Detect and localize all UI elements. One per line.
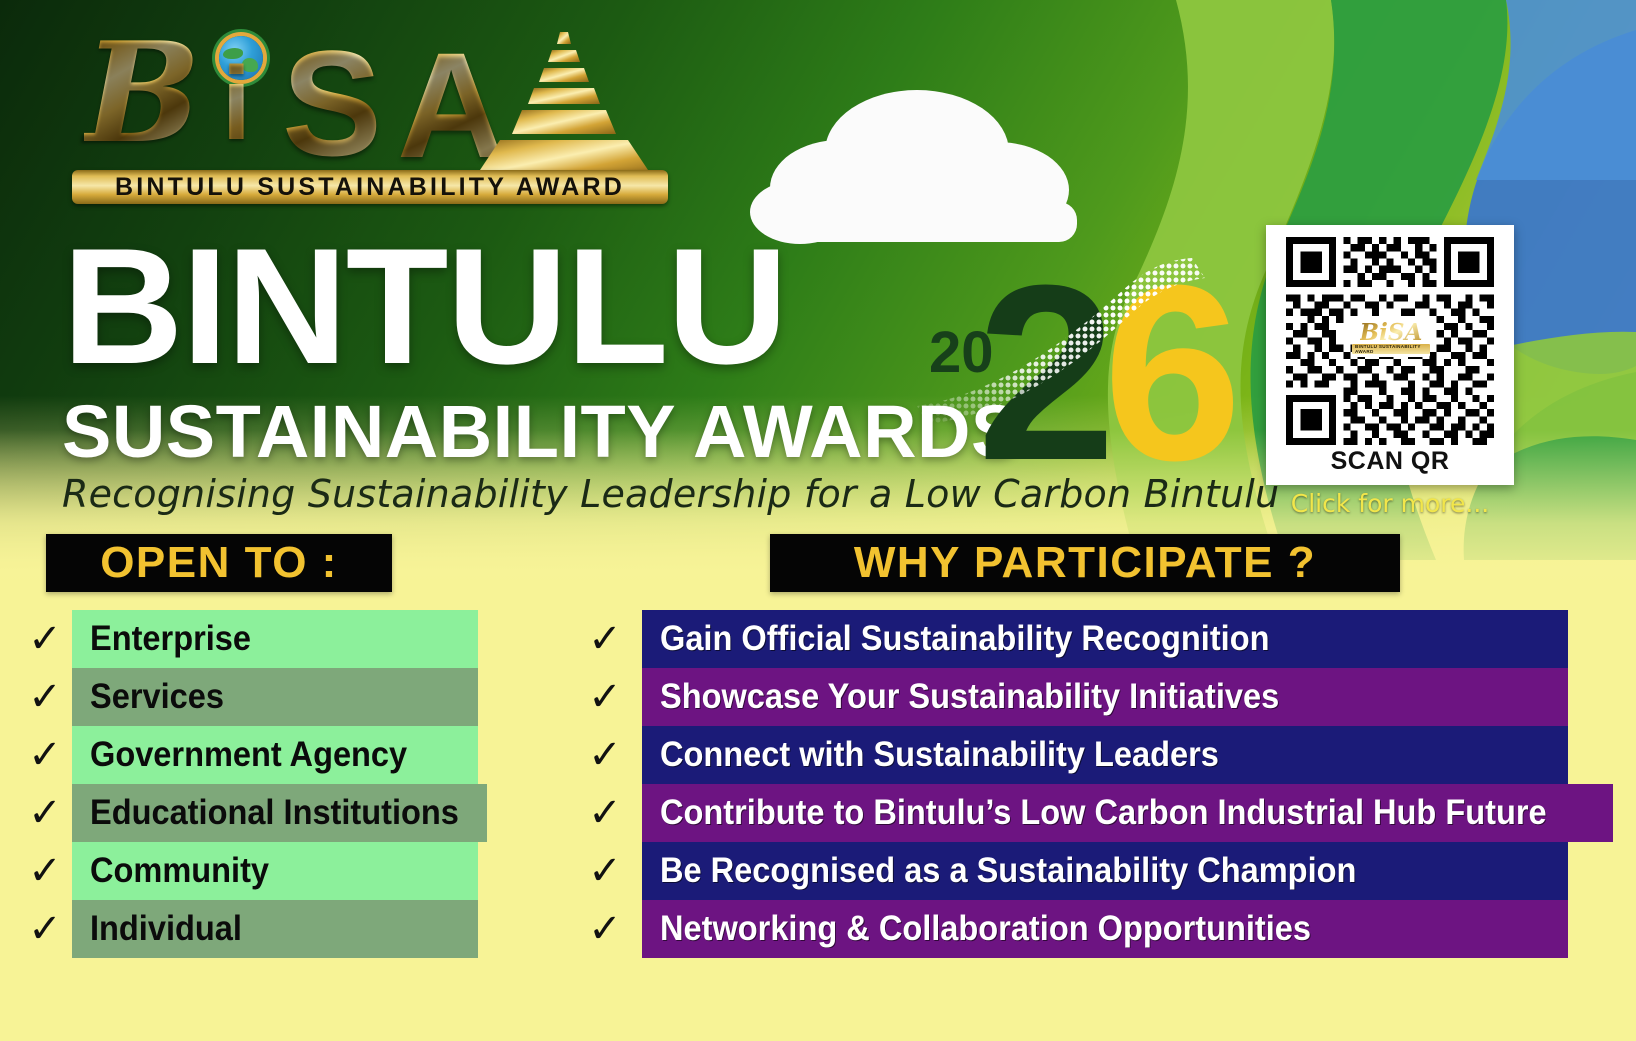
list-item[interactable]: ✓ Connect with Sustainability Leaders [568,726,1568,784]
list-item-pill[interactable]: Community [72,842,478,900]
page-subtitle: SUSTAINABILITY AWARDS [62,395,1021,469]
list-item-label: Government Agency [90,735,407,775]
qr-logo-subtext: BINTULU SUSTAINABILITY AWARD [1352,344,1430,354]
qr-code-card[interactable]: BiSA BINTULU SUSTAINABILITY AWARD SCAN Q… [1266,225,1514,485]
list-item[interactable]: ✓ Services [18,668,478,726]
bisa-logo[interactable]: B i S A [72,22,672,212]
page-title: BINTULU [62,228,786,385]
check-icon: ✓ [568,900,642,958]
list-item-label: Services [90,677,224,717]
logo-letter-i: i [222,52,251,156]
year-digit-6: 6 [1103,248,1242,498]
list-item-pill[interactable]: Government Agency [72,726,478,784]
list-item-pill[interactable]: Connect with Sustainability Leaders [642,726,1568,784]
qr-caption: SCAN QR [1266,447,1514,476]
list-item[interactable]: ✓ Community [18,842,478,900]
list-item-label: Connect with Sustainability Leaders [660,735,1219,775]
list-item-pill[interactable]: Networking & Collaboration Opportunities [642,900,1568,958]
qr-logo-text: BiSA [1360,321,1423,344]
qr-click-for-more-link[interactable]: Click for more... [1266,489,1514,518]
check-icon: ✓ [18,668,72,726]
check-icon: ✓ [568,784,642,842]
section-header-why-participate-label: WHY PARTICIPATE ? [854,538,1316,588]
list-item[interactable]: ✓ Individual [18,900,478,958]
why-participate-list: ✓ Gain Official Sustainability Recogniti… [568,610,1568,958]
list-item[interactable]: ✓ Government Agency [18,726,478,784]
logo-letter-s: S [282,28,382,178]
check-icon: ✓ [18,900,72,958]
list-item-pill[interactable]: Gain Official Sustainability Recognition [642,610,1568,668]
list-item[interactable]: ✓ Networking & Collaboration Opportuniti… [568,900,1568,958]
list-item-label: Community [90,851,269,891]
open-to-list: ✓ Enterprise ✓ Services ✓ Government Age… [18,610,478,958]
list-item-label: Gain Official Sustainability Recognition [660,619,1269,659]
check-icon: ✓ [568,668,642,726]
check-icon: ✓ [568,610,642,668]
list-item-pill[interactable]: Enterprise [72,610,478,668]
list-item[interactable]: ✓ Educational Institutions [18,784,478,842]
bisa-logo-wordmark-text: BINTULU SUSTAINABILITY AWARD [115,173,625,202]
list-item[interactable]: ✓ Showcase Your Sustainability Initiativ… [568,668,1568,726]
list-item[interactable]: ✓ Gain Official Sustainability Recogniti… [568,610,1568,668]
section-header-open-to-label: OPEN TO : [100,538,338,588]
list-item-pill[interactable]: Educational Institutions [72,784,487,842]
list-item-label: Educational Institutions [90,793,459,833]
check-icon: ✓ [18,842,72,900]
list-item-pill[interactable]: Showcase Your Sustainability Initiatives [642,668,1568,726]
list-item-label: Enterprise [90,619,251,659]
qr-embedded-bisa-logo: BiSA BINTULU SUSTAINABILITY AWARD [1352,317,1430,357]
check-icon: ✓ [568,842,642,900]
list-item-label: Networking & Collaboration Opportunities [660,909,1311,949]
section-header-open-to: OPEN TO : [46,534,392,592]
flare-tower-icon [472,30,672,180]
check-icon: ✓ [18,784,72,842]
list-item[interactable]: ✓ Be Recognised as a Sustainability Cham… [568,842,1568,900]
list-item-pill[interactable]: Individual [72,900,478,958]
bisa-logo-mark: B i S A [72,22,672,172]
year-prefix-20: 20 [929,324,994,382]
list-item-label: Showcase Your Sustainability Initiatives [660,677,1279,717]
list-item-pill[interactable]: Be Recognised as a Sustainability Champi… [642,842,1568,900]
logo-letter-b: B [84,24,201,162]
poster-canvas: B i S A [0,0,1636,1041]
list-item-label: Individual [90,909,242,949]
list-item-pill[interactable]: Services [72,668,478,726]
section-header-why-participate: WHY PARTICIPATE ? [770,534,1400,592]
list-item-label: Contribute to Bintulu’s Low Carbon Indus… [660,793,1547,833]
list-item[interactable]: ✓ Enterprise [18,610,478,668]
list-item-label: Be Recognised as a Sustainability Champi… [660,851,1356,891]
check-icon: ✓ [18,726,72,784]
year-digit-2: 2 [977,248,1116,498]
list-item-pill[interactable]: Contribute to Bintulu’s Low Carbon Indus… [642,784,1613,842]
check-icon: ✓ [568,726,642,784]
bisa-logo-wordmark-bar: BINTULU SUSTAINABILITY AWARD [72,170,668,204]
list-item[interactable]: ✓ Contribute to Bintulu’s Low Carbon Ind… [568,784,1568,842]
check-icon: ✓ [18,610,72,668]
year-2026-graphic: 2 6 20 [915,238,1215,498]
